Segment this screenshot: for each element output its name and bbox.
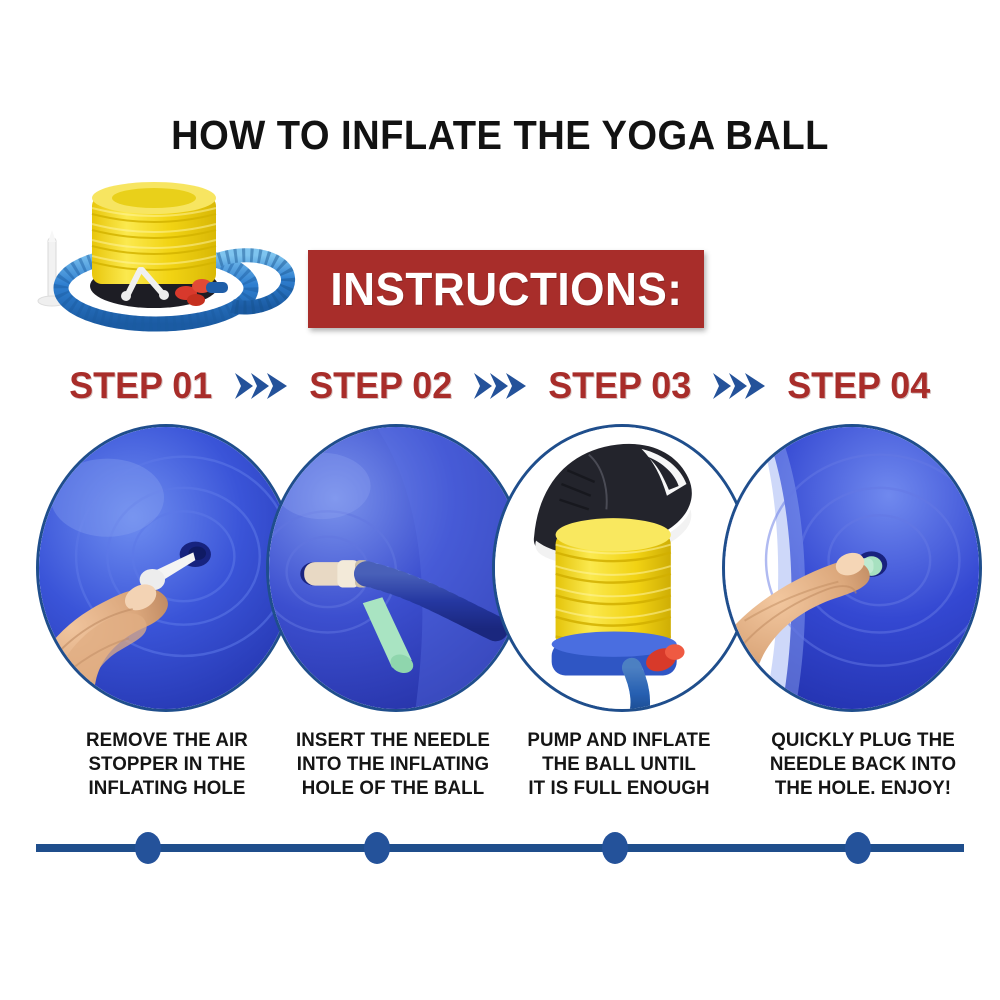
caption-line: INTO THE INFLATING xyxy=(273,752,513,776)
step-image-3 xyxy=(492,424,752,712)
step-label-02: STEP 02 xyxy=(309,365,452,407)
caption-line: IT IS FULL ENOUGH xyxy=(499,776,739,800)
timeline-dot-3 xyxy=(602,832,628,864)
step-caption-1: REMOVE THE AIR STOPPER IN THE INFLATING … xyxy=(47,728,287,800)
product-pump-illustration xyxy=(36,160,316,340)
caption-line: THE BALL UNTIL xyxy=(499,752,739,776)
step-image-1 xyxy=(36,424,296,712)
step-label-row: STEP 01 STEP 02 STEP 03 STEP 04 xyxy=(0,362,1000,410)
step-caption-4: QUICKLY PLUG THE NEEDLE BACK INTO THE HO… xyxy=(743,728,983,800)
step-image-2 xyxy=(266,424,526,712)
caption-line: REMOVE THE AIR xyxy=(47,728,287,752)
pump-hose xyxy=(632,668,641,709)
timeline-dot-1 xyxy=(135,832,161,864)
pump-bellows xyxy=(556,518,671,650)
caption-line: INFLATING HOLE xyxy=(47,776,287,800)
step-image-4-photo xyxy=(722,424,982,712)
caption-line: INSERT THE NEEDLE xyxy=(273,728,513,752)
caption-line: STOPPER IN THE xyxy=(47,752,287,776)
chevron-right-arrow-icon xyxy=(711,369,767,403)
caption-line: HOLE OF THE BALL xyxy=(273,776,513,800)
chevron-right-arrow-icon xyxy=(472,369,528,403)
step-label-03: STEP 03 xyxy=(548,365,691,407)
step-image-1-photo xyxy=(36,424,296,712)
instructions-banner-label: INSTRUCTIONS: xyxy=(330,262,682,316)
caption-line: NEEDLE BACK INTO xyxy=(743,752,983,776)
step-caption-3: PUMP AND INFLATE THE BALL UNTIL IT IS FU… xyxy=(499,728,739,800)
instructions-banner: INSTRUCTIONS: xyxy=(308,250,704,328)
caption-line: PUMP AND INFLATE xyxy=(499,728,739,752)
timeline-line xyxy=(36,844,964,852)
step-image-3-photo xyxy=(492,424,752,712)
chevron-right-arrow-icon xyxy=(233,369,289,403)
step-captions-row: REMOVE THE AIR STOPPER IN THE INFLATING … xyxy=(0,728,1000,818)
step-caption-2: INSERT THE NEEDLE INTO THE INFLATING HOL… xyxy=(273,728,513,800)
caption-line: THE HOLE. ENJOY! xyxy=(743,776,983,800)
timeline-dot-2 xyxy=(364,832,390,864)
step-images-row xyxy=(0,424,1000,714)
step-image-4 xyxy=(722,424,982,712)
step-label-01: STEP 01 xyxy=(69,365,212,407)
step-label-04: STEP 04 xyxy=(788,365,931,407)
step-image-2-photo xyxy=(266,424,526,712)
page-title: HOW TO INFLATE THE YOGA BALL xyxy=(35,112,965,159)
pump-bellows xyxy=(92,182,216,284)
caption-line: QUICKLY PLUG THE xyxy=(743,728,983,752)
progress-timeline xyxy=(0,818,1000,878)
timeline-dot-4 xyxy=(845,832,871,864)
